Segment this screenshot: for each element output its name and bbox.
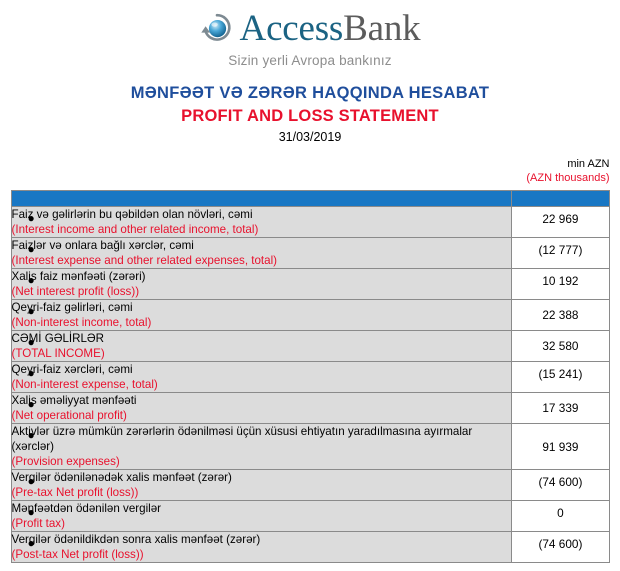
row-value-cell: 10 192 xyxy=(512,269,609,300)
row-label-cell: ●Mənfəətdən ödənilən vergilər(Profit tax… xyxy=(11,501,512,532)
row-value-cell: 17 339 xyxy=(512,393,609,424)
row-value-cell: (12 777) xyxy=(512,238,609,269)
row-label-az: Qeyri-faiz xərcləri, cəmi xyxy=(12,362,512,377)
bullet-icon: ● xyxy=(28,242,35,257)
row-label-cell: ●Vergilər ödənildikdən sonra xalis mənfə… xyxy=(11,532,512,563)
wordmark: AccessBank xyxy=(240,10,421,48)
bullet-icon: ● xyxy=(28,211,35,226)
row-label-en: (Non-interest income, total) xyxy=(12,315,512,330)
row-label-en: (Net operational profit) xyxy=(12,408,512,423)
row-label-en: (Post-tax Net profit (loss)) xyxy=(12,547,512,562)
row-label-cell: ●Qeyri-faiz gəlirləri, cəmi(Non-interest… xyxy=(11,300,512,331)
row-label-en: (Non-interest expense, total) xyxy=(12,377,512,392)
wordmark-bank: Bank xyxy=(343,8,420,49)
table-row: ●Faiz və gəlirlərin bu qəbildən olan növ… xyxy=(11,207,609,238)
table-header-bar-value-cell xyxy=(512,191,609,207)
bullet-icon: ● xyxy=(28,474,35,489)
wordmark-access: Access xyxy=(240,8,344,49)
row-label-cell: ●Faiz və gəlirlərin bu qəbildən olan növ… xyxy=(11,207,512,238)
row-label-az: Vergilər ödənildikdən sonra xalis mənfəə… xyxy=(12,532,512,547)
row-label-en: (Profit tax) xyxy=(12,516,512,531)
row-label-cell: ●Qeyri-faiz xərcləri, cəmi(Non-interest … xyxy=(11,362,512,393)
table-row: ●Vergilər ödənilənədək xalis mənfəət (zə… xyxy=(11,470,609,501)
row-label-az: Aktivlər üzrə mümkün zərərlərin ödənilmə… xyxy=(12,424,512,454)
row-label-az: Faiz və gəlirlərin bu qəbildən olan növl… xyxy=(12,207,512,222)
row-label-en: (Net interest profit (loss)) xyxy=(12,284,512,299)
table-row: ●Mənfəətdən ödənilən vergilər(Profit tax… xyxy=(11,501,609,532)
statement-table-wrapper: ●Faiz və gəlirlərin bu qəbildən olan növ… xyxy=(11,190,610,563)
profit-and-loss-table: ●Faiz və gəlirlərin bu qəbildən olan növ… xyxy=(11,190,610,563)
bullet-icon: ● xyxy=(28,366,35,381)
row-label-cell: ●Faizlər və onlara bağlı xərclər, cəmi(I… xyxy=(11,238,512,269)
row-value-cell: (74 600) xyxy=(512,532,609,563)
table-row: ●Faizlər və onlara bağlı xərclər, cəmi(I… xyxy=(11,238,609,269)
statement-table-body: ●Faiz və gəlirlərin bu qəbildən olan növ… xyxy=(11,191,609,563)
accessbank-sphere-arrow-logo-icon xyxy=(200,12,234,46)
bullet-icon: ● xyxy=(28,428,35,443)
row-label-az: Xalis faiz mənfəəti (zərəri) xyxy=(12,269,512,284)
logo-row: AccessBank xyxy=(200,10,421,48)
report-title-az: MƏNFƏƏT VƏ ZƏRƏR HAQQINDA HESABAT xyxy=(0,84,620,103)
row-label-en: (TOTAL INCOME) xyxy=(12,346,512,361)
row-value-cell: 22 388 xyxy=(512,300,609,331)
table-header-bar xyxy=(11,191,609,207)
table-row: ●Vergilər ödənildikdən sonra xalis mənfə… xyxy=(11,532,609,563)
row-label-az: Mənfəətdən ödənilən vergilər xyxy=(12,501,512,516)
units-label-az: min AZN xyxy=(11,157,610,171)
row-label-en: (Pre-tax Net profit (loss)) xyxy=(12,485,512,500)
row-label-cell: ●Xalis faiz mənfəəti (zərəri)(Net intere… xyxy=(11,269,512,300)
table-row: ●CƏMİ GƏLİRLƏR(TOTAL INCOME)32 580 xyxy=(11,331,609,362)
table-row: ●Xalis faiz mənfəəti (zərəri)(Net intere… xyxy=(11,269,609,300)
table-row: ●Qeyri-faiz xərcləri, cəmi(Non-interest … xyxy=(11,362,609,393)
row-value-cell: (15 241) xyxy=(512,362,609,393)
units-caption: min AZN (AZN thousands) xyxy=(11,157,610,185)
logo-tagline: Sizin yerli Avropa bankınız xyxy=(0,53,620,68)
table-row: ●Aktivlər üzrə mümkün zərərlərin ödənilm… xyxy=(11,424,609,470)
row-value-cell: 32 580 xyxy=(512,331,609,362)
row-label-az: Vergilər ödənilənədək xalis mənfəət (zər… xyxy=(12,470,512,485)
row-value-cell: (74 600) xyxy=(512,470,609,501)
bullet-icon: ● xyxy=(28,505,35,520)
row-value-cell: 91 939 xyxy=(512,424,609,470)
table-row: ●Qeyri-faiz gəlirləri, cəmi(Non-interest… xyxy=(11,300,609,331)
row-label-cell: ●CƏMİ GƏLİRLƏR(TOTAL INCOME) xyxy=(11,331,512,362)
bullet-icon: ● xyxy=(28,536,35,551)
row-label-cell: ●Vergilər ödənilənədək xalis mənfəət (zə… xyxy=(11,470,512,501)
bullet-icon: ● xyxy=(28,304,35,319)
row-label-en: (Provision expenses) xyxy=(12,454,512,469)
row-value-cell: 0 xyxy=(512,501,609,532)
bullet-icon: ● xyxy=(28,273,35,288)
table-row: ●Xalis əməliyyat mənfəəti(Net operationa… xyxy=(11,393,609,424)
report-title-en: PROFIT AND LOSS STATEMENT xyxy=(0,107,620,126)
row-label-cell: ●Aktivlər üzrə mümkün zərərlərin ödənilm… xyxy=(11,424,512,470)
row-label-az: Xalis əməliyyat mənfəəti xyxy=(12,393,512,408)
row-label-az: CƏMİ GƏLİRLƏR xyxy=(12,331,512,346)
bullet-icon: ● xyxy=(28,335,35,350)
units-label-en: (AZN thousands) xyxy=(11,171,610,185)
row-value-cell: 22 969 xyxy=(512,207,609,238)
row-label-cell: ●Xalis əməliyyat mənfəəti(Net operationa… xyxy=(11,393,512,424)
row-label-az: Faizlər və onlara bağlı xərclər, cəmi xyxy=(12,238,512,253)
row-label-en: (Interest expense and other related expe… xyxy=(12,253,512,268)
row-label-en: (Interest income and other related incom… xyxy=(12,222,512,237)
table-header-bar-label-cell xyxy=(11,191,512,207)
brand-logo: AccessBank Sizin yerli Avropa bankınız xyxy=(0,0,620,68)
bullet-icon: ● xyxy=(28,397,35,412)
row-label-az: Qeyri-faiz gəlirləri, cəmi xyxy=(12,300,512,315)
report-titles: MƏNFƏƏT VƏ ZƏRƏR HAQQINDA HESABAT PROFIT… xyxy=(0,84,620,144)
report-date: 31/03/2019 xyxy=(0,130,620,144)
